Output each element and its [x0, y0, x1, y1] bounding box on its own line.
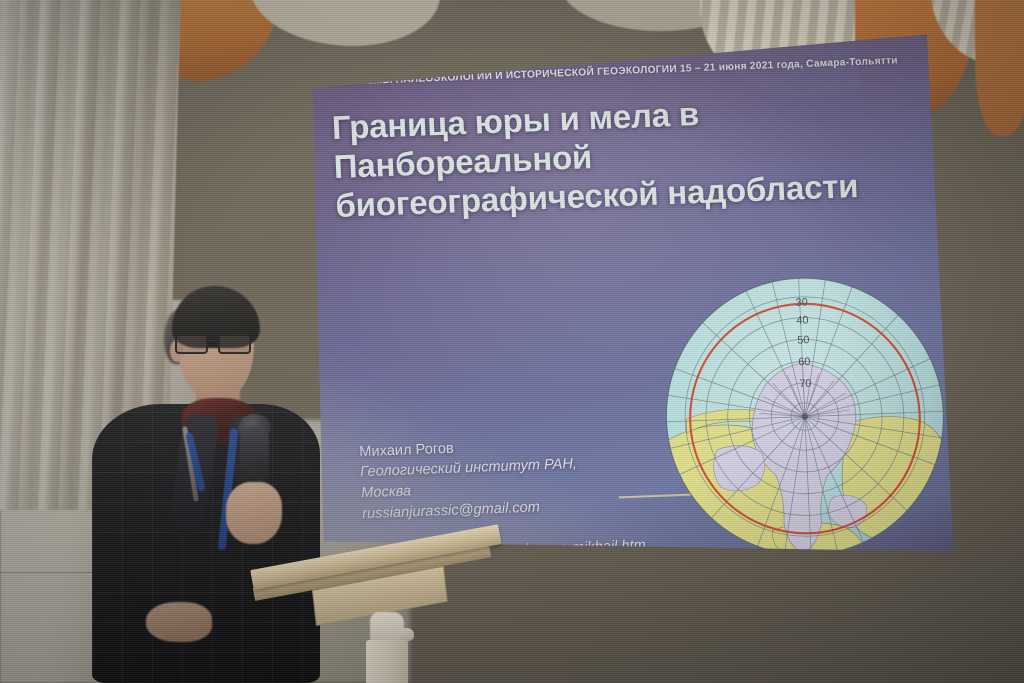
drape-cream — [250, 0, 440, 46]
lectern — [252, 548, 520, 683]
latitude-label: 40 — [796, 315, 809, 327]
slide-title: Граница юры и мела в Панбореальной биоге… — [331, 86, 924, 225]
latitude-label: 50 — [797, 334, 810, 346]
drape-orange — [975, 0, 1024, 136]
paleogeographic-globe-figure: 30 40 50 60 70 — [650, 263, 960, 571]
glasses-bridge — [208, 340, 220, 342]
lectern-pedestal — [366, 640, 408, 683]
presentation-photo: ПРОБЛЕМЫ ПАЛЕОЭКОЛОГИИ И ИСТОРИЧЕСКОЙ ГЕ… — [0, 0, 1024, 683]
projected-slide: ПРОБЛЕМЫ ПАЛЕОЭКОЛОГИИ И ИСТОРИЧЕСКОЙ ГЕ… — [301, 30, 957, 584]
glasses-lens-right — [218, 334, 251, 354]
speaker-hand-lower — [146, 602, 212, 642]
slide-author-block: Михаил Рогов Геологический институт РАН,… — [359, 429, 691, 524]
latitude-label: 30 — [795, 297, 808, 309]
speaker-hand-holding-microphone — [226, 482, 282, 544]
glasses-icon — [174, 334, 256, 354]
glasses-lens-left — [175, 334, 208, 354]
latitude-label: 70 — [799, 378, 812, 390]
latitude-label: 60 — [798, 356, 811, 368]
